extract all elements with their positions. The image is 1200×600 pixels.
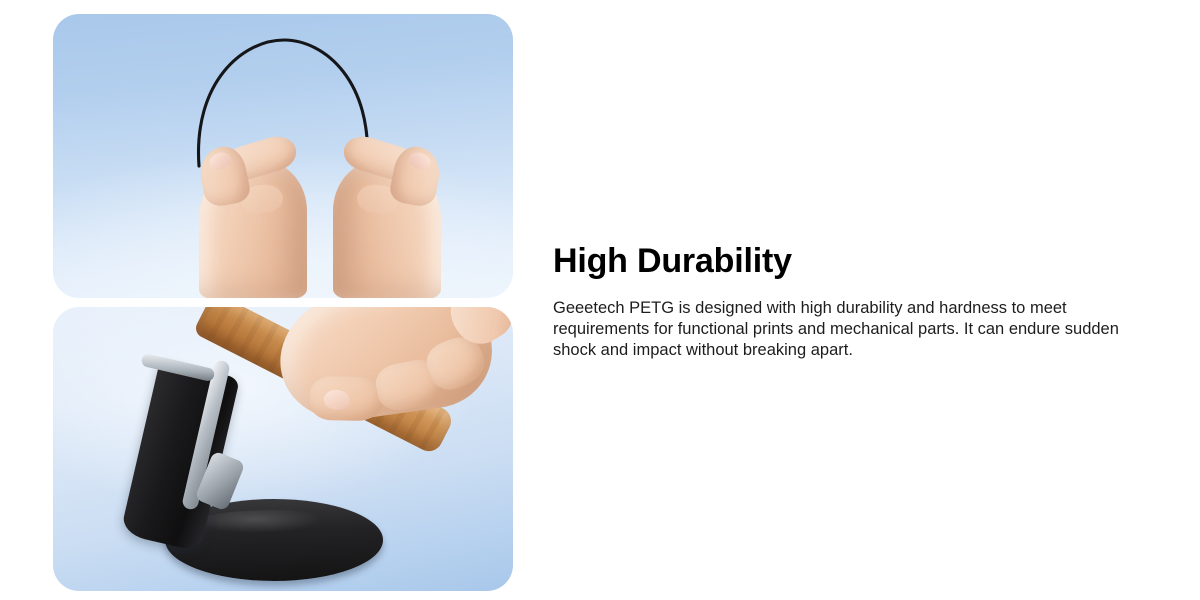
- hand-left-gripping-filament: [189, 139, 321, 298]
- hand-right-gripping-filament: [319, 139, 451, 298]
- high-durability-feature-section: High Durability Geeetech PETG is designe…: [0, 0, 1200, 600]
- feature-title: High Durability: [553, 240, 1153, 282]
- hammer-impact-scene: [53, 307, 513, 591]
- hand-holding-hammer: [270, 307, 513, 437]
- product-photo-gallery: [53, 14, 513, 589]
- photo-card-hammer-impact: [53, 307, 513, 591]
- feature-copy-block: High Durability Geeetech PETG is designe…: [553, 240, 1153, 361]
- photo-card-filament-bend: [53, 14, 513, 298]
- feature-description: Geeetech PETG is designed with high dura…: [553, 298, 1137, 361]
